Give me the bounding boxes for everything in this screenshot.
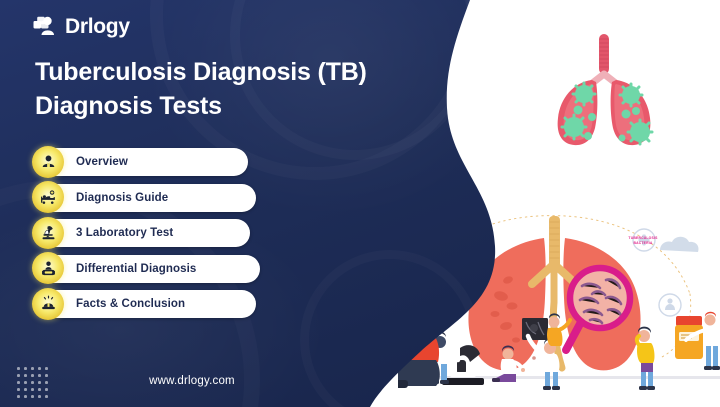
list-item-label: Facts & Conclusion [76, 298, 185, 310]
list-item-overview[interactable]: Overview [34, 148, 248, 176]
hospital-bed-icon [32, 181, 64, 213]
bacteria-label: TUBERCULOSIS BACTERIA [620, 236, 666, 245]
page-title-line-2: Diagnosis Tests [35, 90, 435, 124]
dot-grid-pattern [17, 367, 48, 398]
website-url[interactable]: www.drlogy.com [97, 375, 287, 387]
alert-siren-icon [32, 288, 64, 320]
infected-lungs-with-bacteria-icon [524, 32, 684, 157]
microscope-icon [32, 217, 64, 249]
page-title: Tuberculosis Diagnosis (TB) Diagnosis Te… [35, 56, 435, 123]
list-item-label: Differential Diagnosis [76, 263, 196, 275]
patient-chair-icon [32, 252, 64, 284]
medical-person-cross-icon [33, 14, 58, 39]
list-item-diagnosis-guide[interactable]: Diagnosis Guide [34, 184, 256, 212]
list-item-differential-diagnosis[interactable]: Differential Diagnosis [34, 255, 260, 283]
section-list: Overview Diagnosis Guide [34, 148, 260, 318]
poster-canvas: TUBERCULOSIS BACTERIA Drlogy Tuberculosi… [0, 0, 720, 407]
list-item-label: Diagnosis Guide [76, 192, 168, 204]
person-profile-icon [32, 146, 64, 178]
list-item-label: 3 Laboratory Test [76, 227, 173, 239]
brand-logo[interactable]: Drlogy [33, 14, 130, 39]
list-item-label: Overview [76, 156, 128, 168]
page-title-line-1: Tuberculosis Diagnosis (TB) [35, 56, 435, 90]
list-item-facts-conclusion[interactable]: Facts & Conclusion [34, 290, 256, 318]
brand-name: Drlogy [65, 15, 130, 39]
list-item-laboratory-test[interactable]: 3 Laboratory Test [34, 219, 250, 247]
